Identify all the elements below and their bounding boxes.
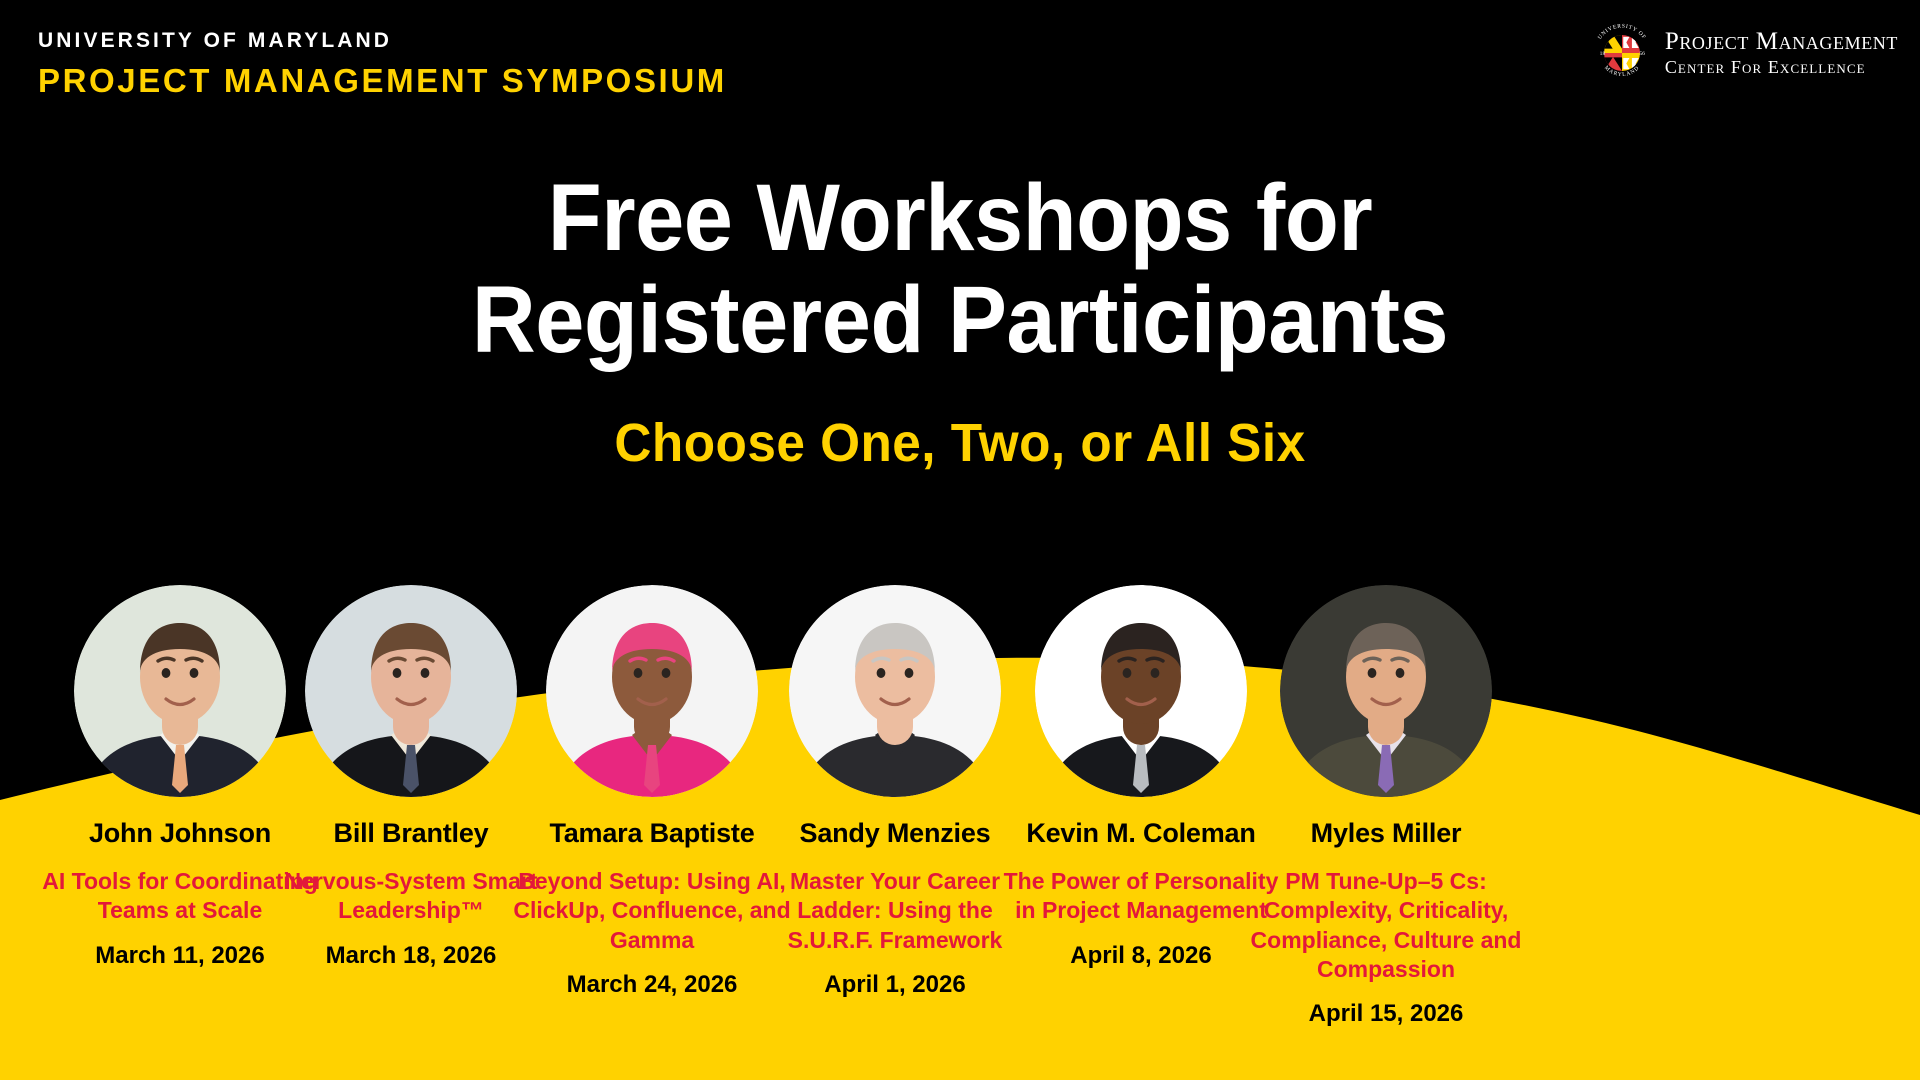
portrait-sandy-menzies [789, 585, 1001, 797]
portrait-kevin-m-coleman [1035, 585, 1247, 797]
portrait-bill-brantley [305, 585, 517, 797]
workshop-date: April 1, 2026 [745, 972, 1045, 998]
speaker-card[interactable]: Myles MillerPM Tune-Up–5 Cs: Complexity,… [1236, 585, 1536, 1028]
portrait-tamara-baptiste [546, 585, 758, 797]
workshop-date: April 15, 2026 [1236, 1001, 1536, 1027]
speaker-name: Myles Miller [1236, 819, 1536, 849]
portrait-myles-miller [1280, 585, 1492, 797]
speaker-list: John JohnsonAI Tools for Coordinating Te… [0, 0, 1920, 1080]
workshop-title: PM Tune-Up–5 Cs: Complexity, Criticality… [1236, 867, 1536, 985]
portrait-john-johnson [74, 585, 286, 797]
